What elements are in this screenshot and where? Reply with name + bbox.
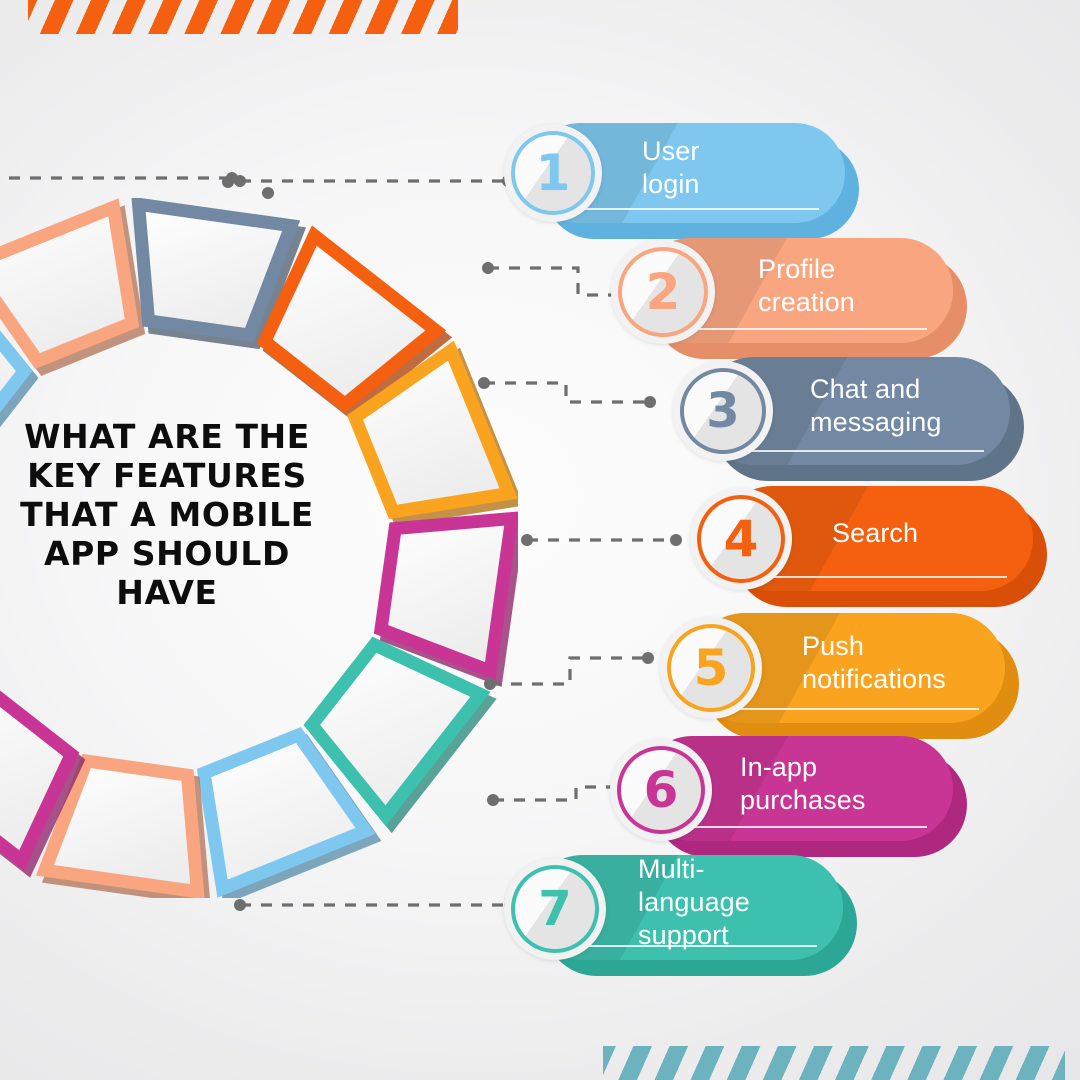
step-number-badge-3[interactable]: 3: [673, 361, 773, 461]
connector-dot: [644, 396, 656, 408]
step-number-7: 7: [538, 885, 571, 933]
step-number-5: 5: [694, 643, 729, 693]
pill-divider: [738, 450, 984, 452]
connector-dot: [234, 175, 246, 187]
connector-dot: [482, 262, 494, 274]
connector-dot: [642, 652, 654, 664]
step-number-4: 4: [724, 514, 759, 564]
pill-divider: [676, 328, 927, 330]
step-number-6: 6: [644, 765, 679, 815]
step-number-1: 1: [536, 148, 571, 198]
step-number-badge-4[interactable]: 4: [690, 488, 792, 590]
connector-dot: [262, 187, 274, 199]
connector-dot: [521, 534, 533, 546]
pill-divider: [568, 208, 819, 210]
pill-divider: [678, 826, 927, 828]
connector-dot: [670, 534, 682, 546]
step-number-3: 3: [706, 387, 739, 435]
step-number-badge-1[interactable]: 1: [504, 124, 602, 222]
connector-dot: [487, 794, 499, 806]
step-number-badge-7[interactable]: 7: [504, 858, 606, 960]
step-number-badge-5[interactable]: 5: [660, 617, 762, 719]
step-number-badge-6[interactable]: 6: [610, 739, 712, 841]
connector-dot: [222, 176, 234, 188]
connector-line-4: [484, 383, 650, 402]
pill-divider: [758, 576, 1007, 578]
connector-dot: [478, 377, 490, 389]
pill-divider: [728, 708, 979, 710]
step-number-2: 2: [646, 267, 681, 317]
connector-dot: [234, 899, 246, 911]
step-number-badge-2[interactable]: 2: [611, 240, 715, 344]
connector-line-6: [490, 658, 648, 684]
connector-dot: [484, 678, 496, 690]
